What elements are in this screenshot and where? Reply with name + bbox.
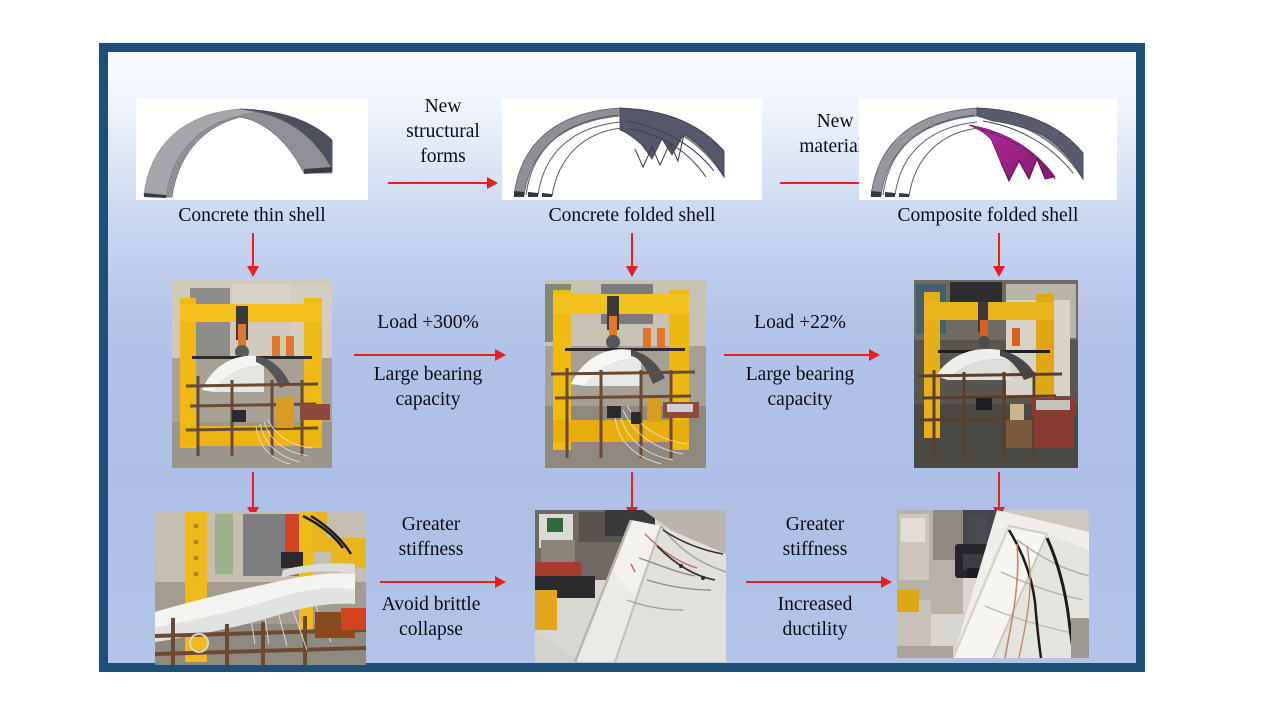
transition-greater-stiffness-2-top: Greater stiffness (742, 512, 888, 562)
transition-bottom-line-1: Large bearing (728, 362, 872, 387)
transition-top-line-2: stiffness (358, 537, 504, 562)
arrow-details-2-to-3 (746, 576, 892, 588)
transition-bottom-line-1: Avoid brittle (358, 592, 504, 617)
transition-bottom-line-1: Increased (742, 592, 888, 617)
figure-canvas: Concrete thin shell New structural forms (0, 0, 1280, 720)
arrow-tests-1-to-2 (354, 349, 506, 361)
transition-load-300-label: Load +300% (356, 310, 500, 335)
transition-bottom-line-2: collapse (358, 617, 504, 642)
arrow-col3-row1-to-row2 (993, 233, 1005, 277)
folded-shell-svg (502, 99, 762, 200)
model-caption-2: Concrete folded shell (494, 204, 770, 228)
folded-shell-cracking-photo (535, 510, 726, 662)
composite-folded-shell-closeup-photo (897, 510, 1089, 658)
transition-large-bearing-capacity-2: Large bearing capacity (728, 362, 872, 412)
model-caption-1: Concrete thin shell (136, 204, 368, 228)
transition-load-22-label: Load +22% (728, 310, 872, 335)
concrete-thin-shell-model (136, 99, 368, 200)
arrow-details-1-to-2 (380, 576, 506, 588)
transition-new-structural-forms-label: New structural forms (384, 94, 502, 169)
transition-top-text: Load +300% (356, 310, 500, 335)
transition-greater-stiffness-1-top: Greater stiffness (358, 512, 504, 562)
composite-folded-shell-loading-test-photo (914, 280, 1078, 468)
arrow-tests-2-to-3 (724, 349, 880, 361)
arrow-col1-row1-to-row2 (247, 233, 259, 277)
transition-top-line-1: Greater (742, 512, 888, 537)
arrow-models-1-to-2 (388, 177, 498, 189)
transition-large-bearing-capacity-1: Large bearing capacity (356, 362, 500, 412)
transition-avoid-brittle-collapse: Avoid brittle collapse (358, 592, 504, 642)
transition-bottom-line-2: capacity (356, 387, 500, 412)
composite-folded-shell-model (859, 99, 1117, 200)
concrete-folded-shell-model (502, 99, 762, 200)
folded-shell-loading-test-photo (545, 280, 706, 468)
transition-line-1: New (384, 94, 502, 119)
model-caption-3: Composite folded shell (849, 204, 1127, 228)
transition-increased-ductility: Increased ductility (742, 592, 888, 642)
transition-top-text: Load +22% (728, 310, 872, 335)
figure-frame: Concrete thin shell New structural forms (99, 43, 1145, 672)
thin-shell-deformation-photo (155, 512, 366, 665)
transition-bottom-line-2: capacity (728, 387, 872, 412)
thin-shell-loading-test-photo (172, 280, 332, 468)
transition-bottom-line-1: Large bearing (356, 362, 500, 387)
transition-top-line-1: Greater (358, 512, 504, 537)
composite-shell-svg (859, 99, 1117, 200)
arrow-col2-row1-to-row2 (626, 233, 638, 277)
thin-shell-svg (136, 99, 368, 200)
transition-top-line-2: stiffness (742, 537, 888, 562)
transition-line-2: structural (384, 119, 502, 144)
transition-bottom-line-2: ductility (742, 617, 888, 642)
transition-line-3: forms (384, 144, 502, 169)
